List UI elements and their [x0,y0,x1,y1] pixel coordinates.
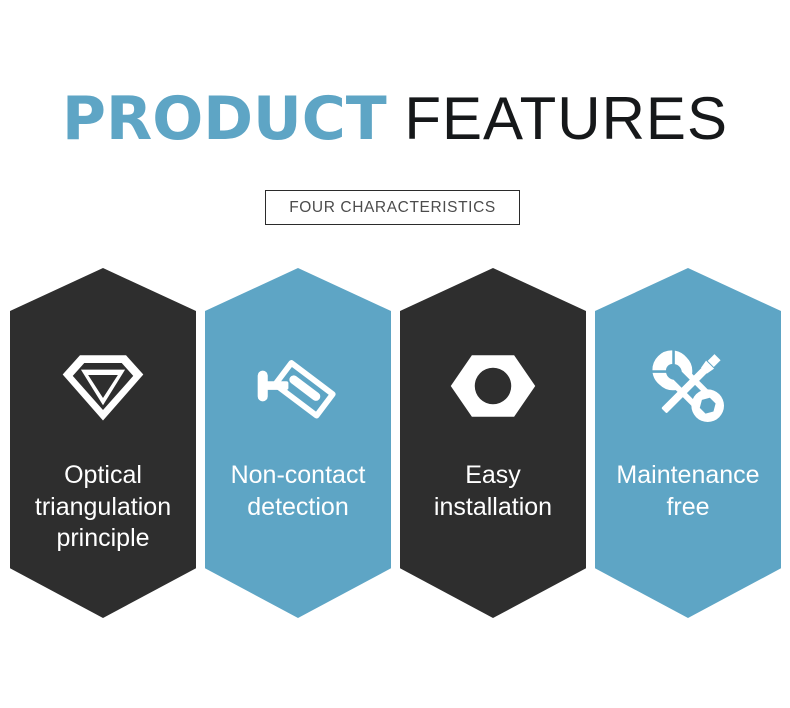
feature-card-easy-installation[interactable]: Easy installation [400,268,586,618]
page-title-primary: PRODUCT [62,84,387,154]
feature-card-non-contact-detection[interactable]: Non-contact detection [205,268,391,618]
page-title-secondary-text: FEATURES [404,85,728,152]
page-title-secondary [387,85,405,152]
feature-card-maintenance-free[interactable]: Maintenance free [595,268,781,618]
feature-card-label: Easy installation [405,460,581,523]
feature-cards: Optical triangulation principle Non-cont… [0,268,790,620]
feature-card-optical-triangulation-principle[interactable]: Optical triangulation principle [10,268,196,618]
diamond-gem-icon [55,338,151,434]
feature-card-label: Optical triangulation principle [15,460,191,555]
subtitle-badge: FOUR CHARACTERISTICS [265,190,520,225]
wrench-screwdriver-icon [640,338,736,434]
security-camera-icon [250,338,346,434]
feature-card-label: Non-contact detection [210,460,386,523]
subtitle-text: FOUR CHARACTERISTICS [289,199,496,217]
hex-nut-icon [445,338,541,434]
feature-card-label: Maintenance free [600,460,776,523]
page-title: PRODUCT FEATURES [0,89,790,149]
